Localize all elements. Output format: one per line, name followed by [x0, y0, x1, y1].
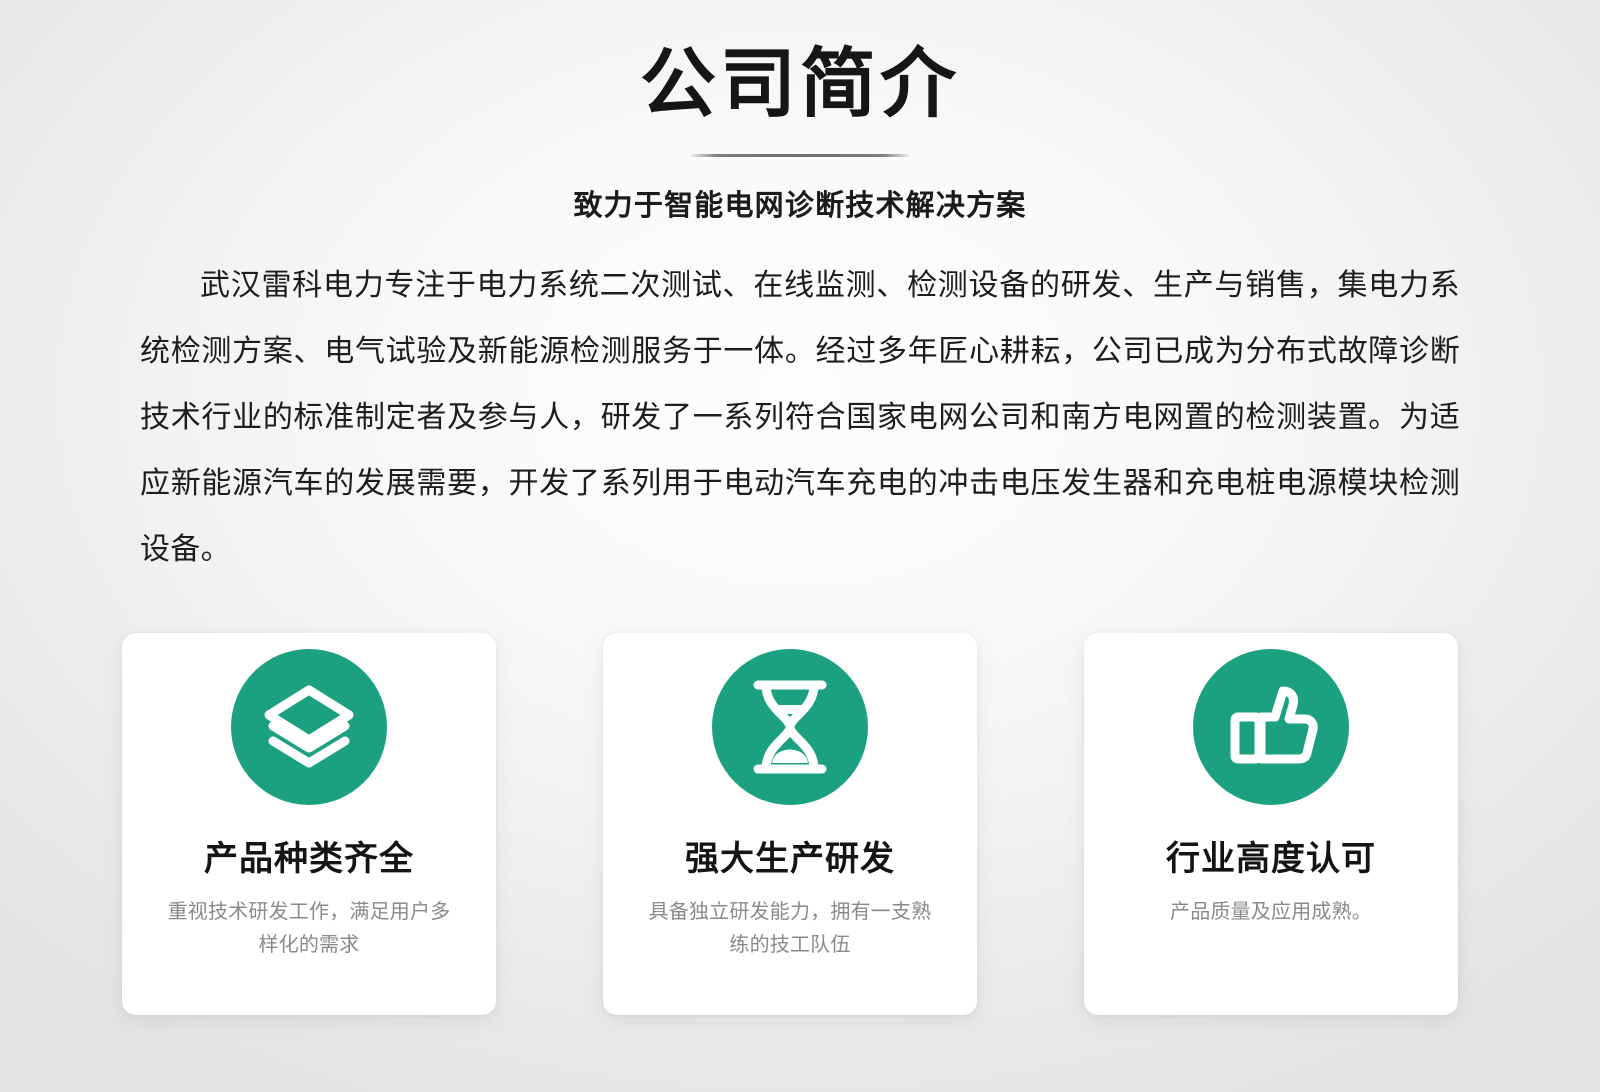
thumbs-up-icon	[1193, 649, 1349, 805]
page-header: 公司简介 致力于智能电网诊断技术解决方案	[0, 46, 1600, 224]
company-profile-page: 公司简介 致力于智能电网诊断技术解决方案 武汉雷科电力专注于电力系统二次测试、在…	[0, 0, 1600, 1092]
layers-icon	[231, 649, 387, 805]
feature-card-desc: 具备独立研发能力，拥有一支熟练的技工队伍	[640, 896, 940, 962]
feature-card-title: 产品种类齐全	[204, 841, 414, 878]
feature-card[interactable]: 行业高度认可 产品质量及应用成熟。	[1084, 633, 1458, 1015]
page-title: 公司简介	[0, 46, 1600, 124]
feature-card-list: 产品种类齐全 重视技术研发工作，满足用户多样化的需求 强大生产研发 具备独立	[122, 633, 1458, 1015]
page-subtitle: 致力于智能电网诊断技术解决方案	[0, 182, 1600, 224]
feature-card-title: 强大生产研发	[685, 841, 895, 878]
company-intro-paragraph: 武汉雷科电力专注于电力系统二次测试、在线监测、检测设备的研发、生产与销售，集电力…	[140, 253, 1460, 583]
title-divider	[691, 154, 909, 157]
hourglass-icon	[712, 649, 868, 805]
feature-card-desc: 重视技术研发工作，满足用户多样化的需求	[159, 896, 459, 962]
feature-card[interactable]: 产品种类齐全 重视技术研发工作，满足用户多样化的需求	[122, 633, 496, 1015]
feature-card-title: 行业高度认可	[1166, 841, 1376, 878]
feature-card-desc: 产品质量及应用成熟。	[1121, 896, 1421, 929]
feature-card[interactable]: 强大生产研发 具备独立研发能力，拥有一支熟练的技工队伍	[603, 633, 977, 1015]
